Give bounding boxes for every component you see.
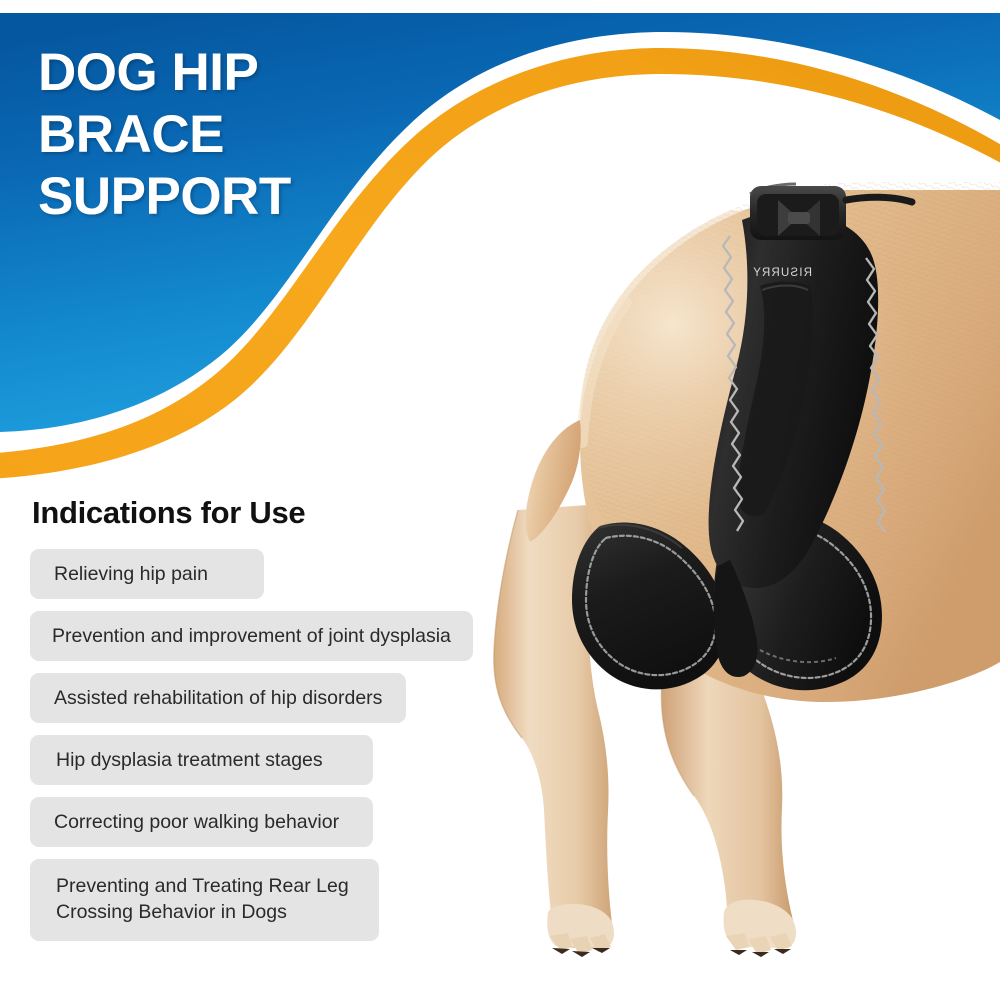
indication-chip[interactable]: Assisted rehabilitation of hip disorders <box>30 673 406 723</box>
indication-chip[interactable]: Preventing and Treating Rear Leg Crossin… <box>30 859 379 941</box>
product-photo-dog-wearing-hip-brace: RISURRY <box>430 90 1000 1000</box>
indication-chip[interactable]: Correcting poor walking behavior <box>30 797 373 847</box>
indication-row: Assisted rehabilitation of hip disorders <box>0 673 500 723</box>
headline-line-2: BRACE <box>38 104 468 166</box>
indication-row: Prevention and improvement of joint dysp… <box>0 611 500 661</box>
indication-row: Hip dysplasia treatment stages <box>0 735 500 785</box>
headline-line-1: DOG HIP <box>38 42 468 104</box>
indications-section: Indications for Use Relieving hip pain P… <box>0 495 500 953</box>
indication-chip[interactable]: Relieving hip pain <box>30 549 264 599</box>
brace-brand-label: RISURRY <box>752 267 812 279</box>
infographic-canvas: RISURRY <box>0 0 1000 1000</box>
indication-chip[interactable]: Hip dysplasia treatment stages <box>30 735 373 785</box>
indication-row: Preventing and Treating Rear Leg Crossin… <box>0 859 500 941</box>
indication-row: Relieving hip pain <box>0 549 500 599</box>
indication-chip[interactable]: Prevention and improvement of joint dysp… <box>30 611 473 661</box>
indication-row: Correcting poor walking behavior <box>0 797 500 847</box>
headline: DOG HIP BRACE SUPPORT <box>38 42 468 228</box>
section-title: Indications for Use <box>32 495 500 531</box>
headline-line-3: SUPPORT <box>38 166 468 228</box>
